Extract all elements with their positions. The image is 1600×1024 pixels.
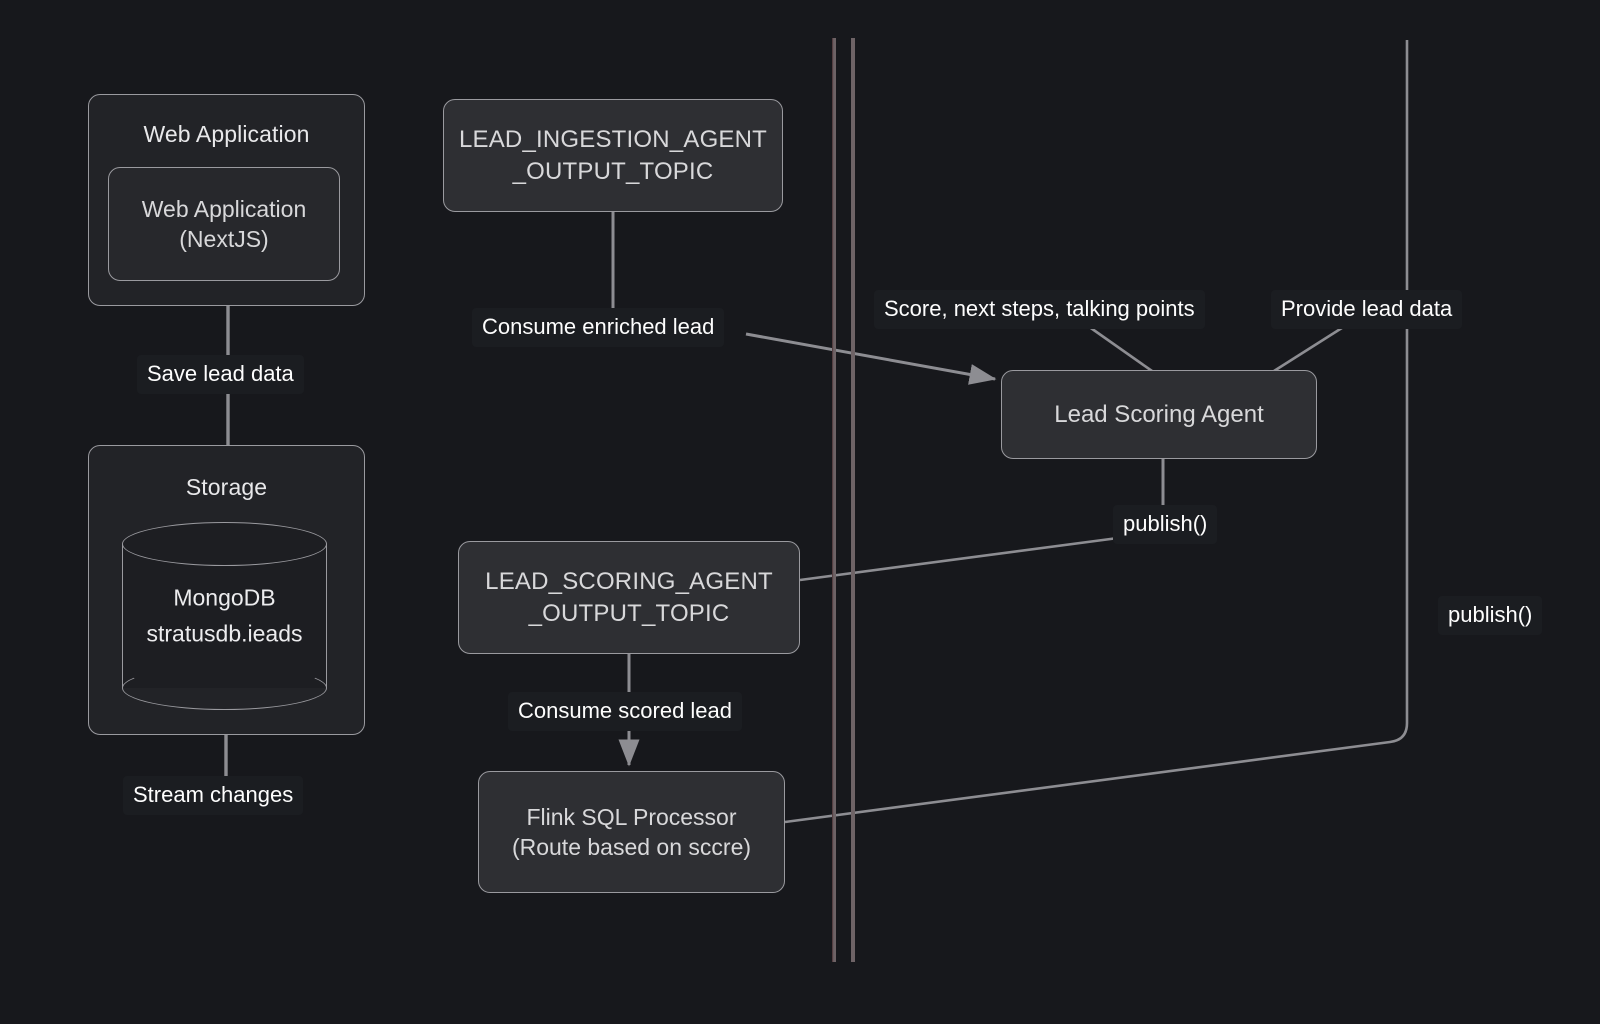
edge-label-publish-right-text: publish() — [1448, 602, 1532, 627]
edge-label-provide-lead-data: Provide lead data — [1271, 290, 1462, 329]
node-lead-ingestion-agent-output-topic[interactable]: LEAD_INGESTION_AGENT _OUTPUT_TOPIC — [443, 99, 783, 212]
edge-label-stream-changes-text: Stream changes — [133, 782, 293, 807]
edge-label-publish-center-text: publish() — [1123, 511, 1207, 536]
node-flink-sql-processor[interactable]: Flink SQL Processor (Route based on sccr… — [478, 771, 785, 893]
edge-label-score-next-steps-text: Score, next steps, talking points — [884, 296, 1195, 321]
edge-consume-enriched-to-lead-scoring-agent — [746, 334, 995, 379]
topic-scoring-line1: LEAD_SCORING_AGENT — [485, 566, 773, 598]
cylinder-bottom-ellipse — [122, 666, 327, 710]
node-lead-scoring-agent[interactable]: Lead Scoring Agent — [1001, 370, 1317, 459]
center-rail-left — [832, 38, 836, 962]
edge-label-publish-center: publish() — [1113, 505, 1217, 544]
node-mongodb-line2: stratusdb.ieads — [122, 616, 327, 652]
node-flink-line2: (Route based on sccre) — [512, 832, 751, 862]
edge-label-save-lead-data: Save lead data — [137, 355, 304, 394]
edge-label-stream-changes: Stream changes — [123, 776, 303, 815]
edge-label-consume-scored-lead: Consume scored lead — [508, 692, 742, 731]
node-mongodb-line1: MongoDB — [122, 580, 327, 616]
node-web-application-nextjs-line1: Web Application — [142, 194, 307, 224]
group-storage: Storage MongoDB stratusdb.ieads — [88, 445, 365, 735]
topic-ingestion-line1: LEAD_INGESTION_AGENT — [459, 124, 767, 156]
group-web-application: Web Application Web Application (NextJS) — [88, 94, 365, 306]
node-mongodb-label: MongoDB stratusdb.ieads — [122, 580, 327, 651]
topic-ingestion-line2: _OUTPUT_TOPIC — [513, 156, 714, 188]
edge-label-consume-enriched-lead: Consume enriched lead — [472, 308, 724, 347]
edge-publish-to-scoring-topic — [800, 538, 1118, 580]
diagram-canvas: Web Application Web Application (NextJS)… — [0, 0, 1600, 1024]
node-web-application-nextjs-line2: (NextJS) — [179, 224, 268, 254]
edge-score-label-to-lead-scoring-agent — [1088, 326, 1152, 371]
group-web-application-title: Web Application — [89, 121, 364, 148]
topic-scoring-line2: _OUTPUT_TOPIC — [529, 598, 730, 630]
edge-label-consume-enriched-lead-text: Consume enriched lead — [482, 314, 714, 339]
cylinder-top-ellipse — [122, 522, 327, 566]
node-lead-scoring-agent-label: Lead Scoring Agent — [1054, 399, 1264, 431]
edge-label-consume-scored-lead-text: Consume scored lead — [518, 698, 732, 723]
edge-label-save-lead-data-text: Save lead data — [147, 361, 294, 386]
edge-label-provide-lead-data-text: Provide lead data — [1281, 296, 1452, 321]
edge-provide-lead-data-to-lead-scoring-agent — [1274, 326, 1345, 371]
group-storage-title: Storage — [89, 474, 364, 501]
node-flink-line1: Flink SQL Processor — [526, 802, 736, 832]
center-rail-right — [851, 38, 855, 962]
edge-label-score-next-steps: Score, next steps, talking points — [874, 290, 1205, 329]
node-mongodb-cylinder[interactable]: MongoDB stratusdb.ieads — [122, 522, 327, 710]
edge-label-publish-right: publish() — [1438, 596, 1542, 635]
node-lead-scoring-agent-output-topic[interactable]: LEAD_SCORING_AGENT _OUTPUT_TOPIC — [458, 541, 800, 654]
node-web-application-nextjs[interactable]: Web Application (NextJS) — [108, 167, 340, 281]
